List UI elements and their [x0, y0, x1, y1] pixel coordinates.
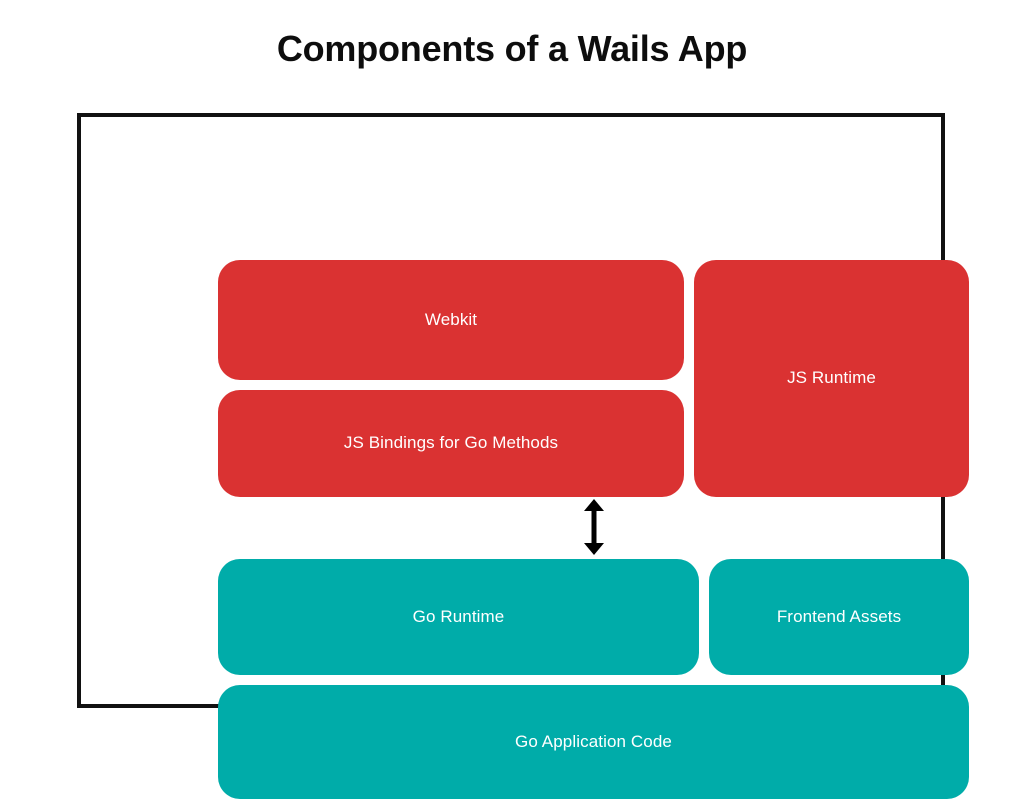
diagram-canvas: Components of a Wails App Webkit JS Bind…	[0, 0, 1024, 768]
node-webkit-label: Webkit	[425, 310, 477, 330]
node-js-runtime[interactable]: JS Runtime	[694, 260, 969, 497]
app-boundary-frame: Webkit JS Bindings for Go Methods JS Run…	[77, 113, 945, 708]
node-go-application-code-label: Go Application Code	[515, 732, 672, 752]
node-js-bindings[interactable]: JS Bindings for Go Methods	[218, 390, 684, 497]
node-js-runtime-label: JS Runtime	[787, 368, 876, 388]
node-go-application-code[interactable]: Go Application Code	[218, 685, 969, 799]
node-go-runtime-label: Go Runtime	[413, 607, 505, 627]
node-js-bindings-label: JS Bindings for Go Methods	[344, 433, 558, 453]
double-headed-vertical-arrow-icon	[582, 497, 606, 557]
node-go-runtime[interactable]: Go Runtime	[218, 559, 699, 675]
node-frontend-assets-label: Frontend Assets	[777, 607, 901, 627]
page-title: Components of a Wails App	[0, 28, 1024, 70]
node-frontend-assets[interactable]: Frontend Assets	[709, 559, 969, 675]
node-webkit[interactable]: Webkit	[218, 260, 684, 380]
